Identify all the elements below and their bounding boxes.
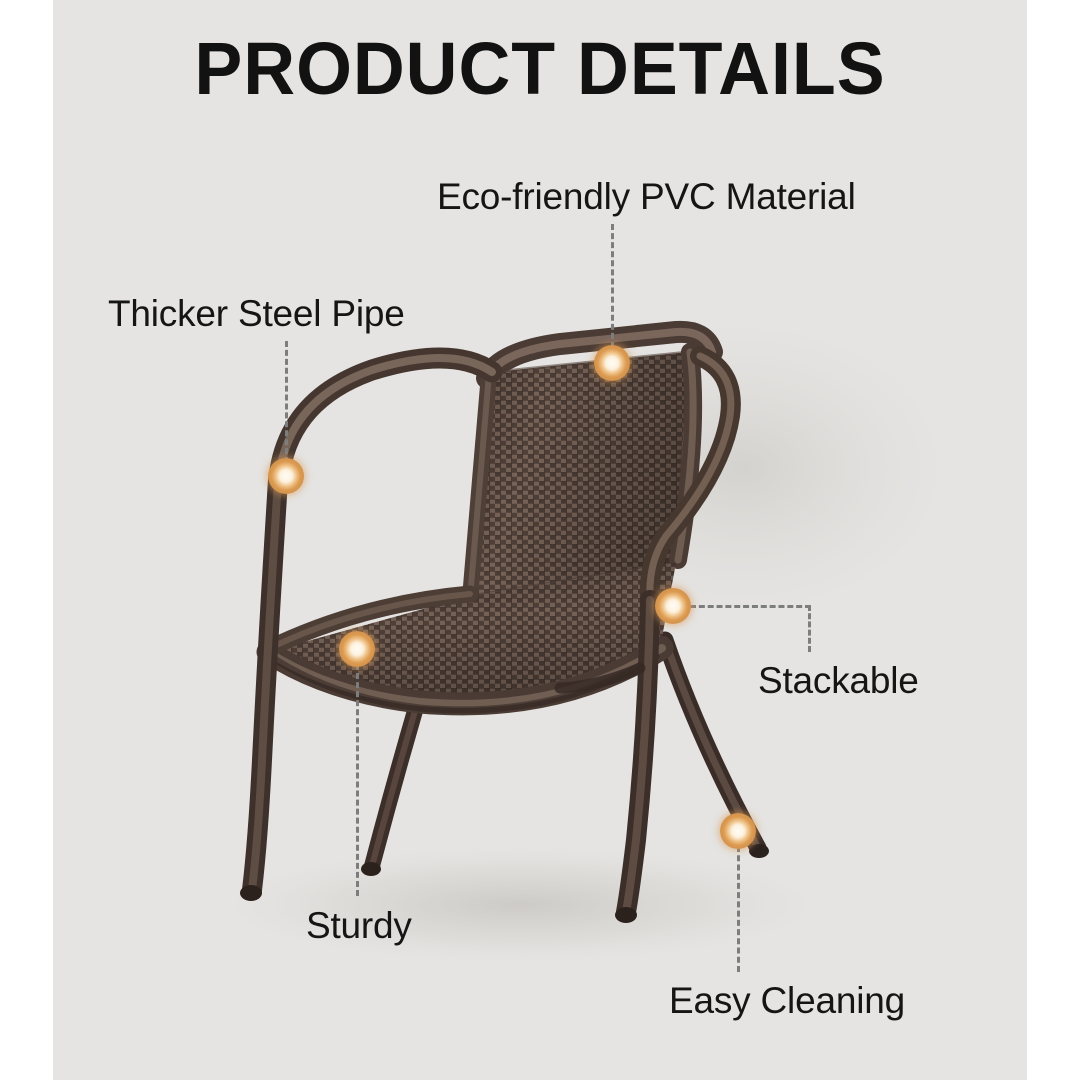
callout-label-sturdy: Sturdy	[306, 905, 412, 947]
chair-product-image	[0, 0, 1080, 1080]
callout-label-steel: Thicker Steel Pipe	[108, 293, 405, 335]
callout-label-eco: Eco-friendly PVC Material	[437, 176, 856, 218]
page-title: PRODUCT DETAILS	[16, 26, 1064, 111]
product-details-infographic: PRODUCT DETAILS Eco-friendly PVC Materia…	[0, 0, 1080, 1080]
callout-label-stackable: Stackable	[758, 660, 919, 702]
callout-label-easy: Easy Cleaning	[669, 980, 905, 1022]
chair-illustration	[0, 0, 1080, 1080]
